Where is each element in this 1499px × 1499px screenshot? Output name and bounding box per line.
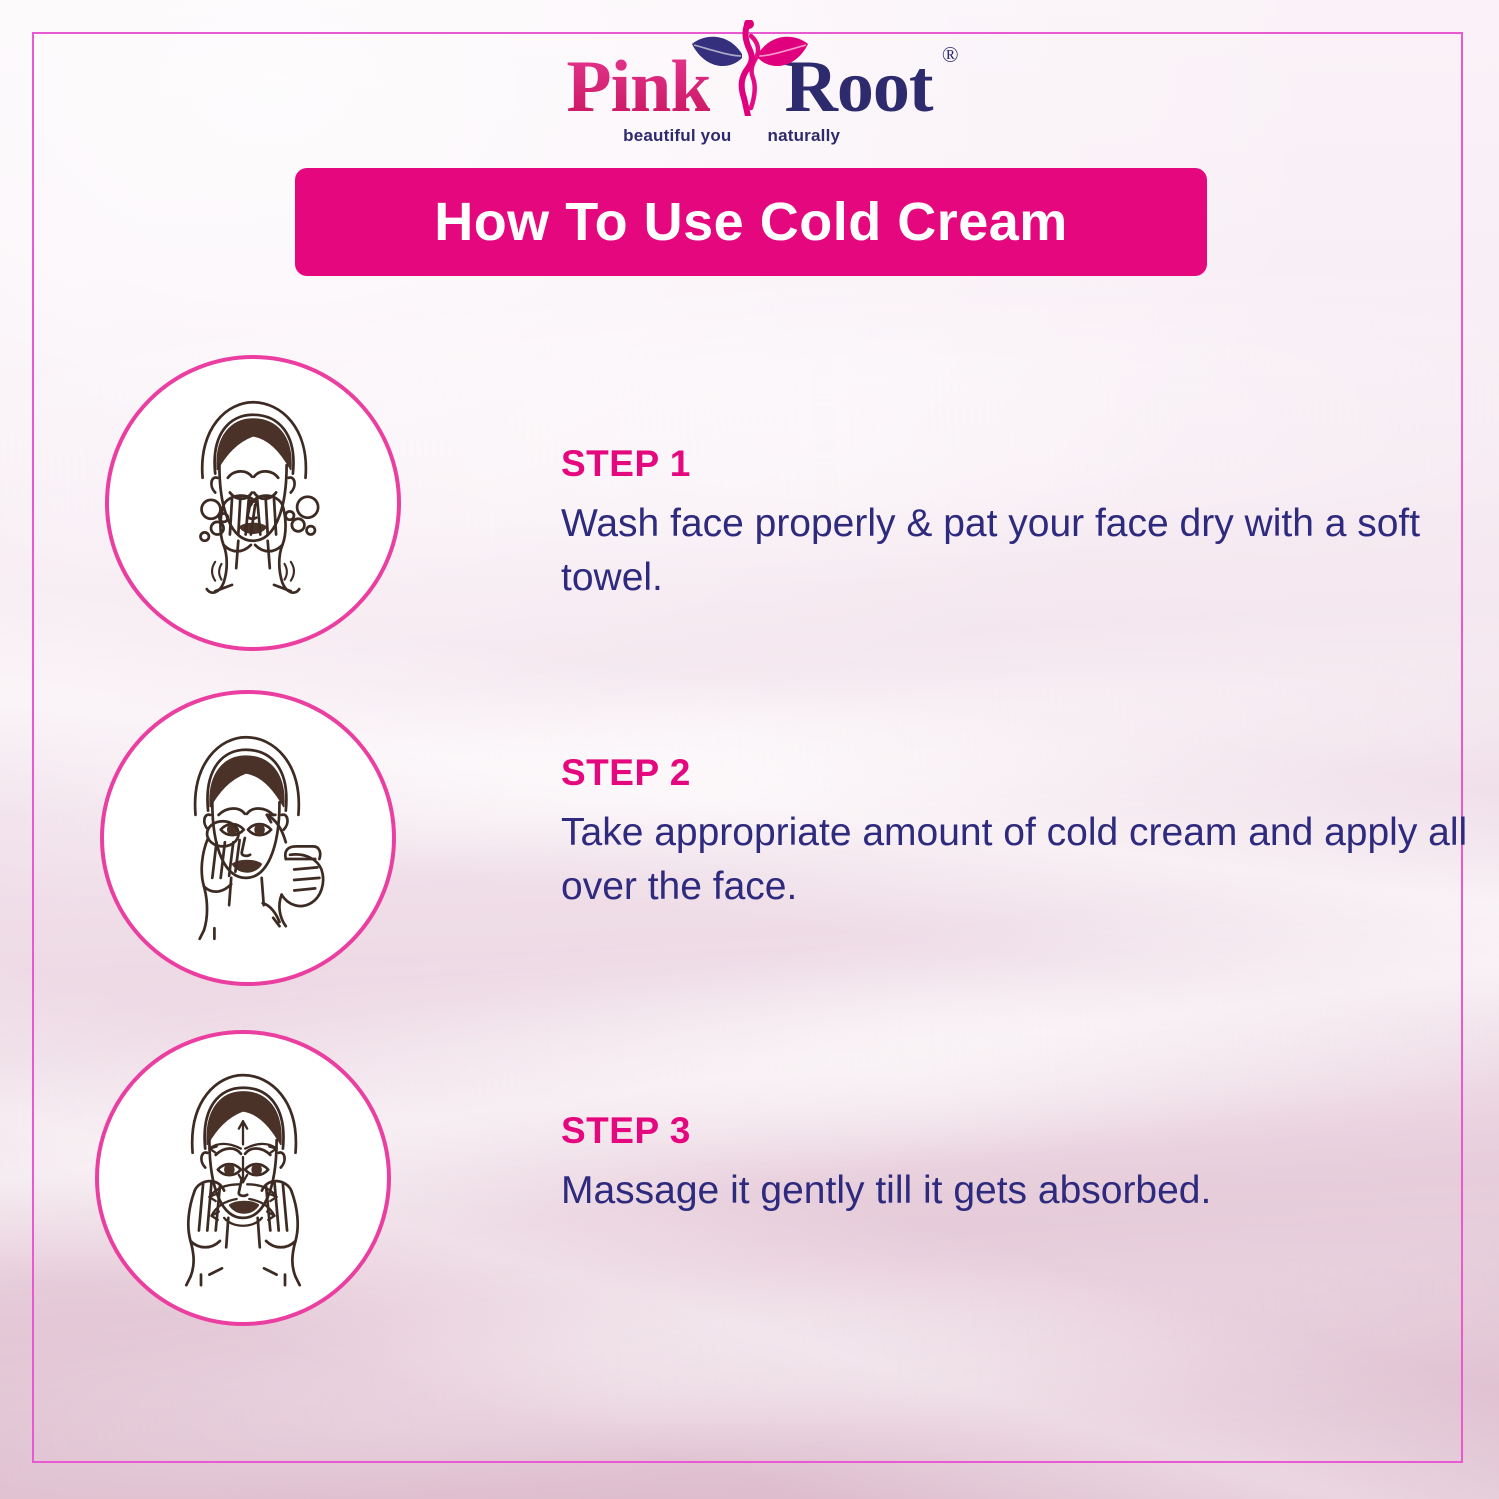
brand-tagline: beautiful you naturally: [614, 126, 886, 146]
tagline-right: naturally: [768, 126, 886, 146]
washing-face-icon: [127, 377, 379, 629]
step-2-label: STEP 2: [561, 752, 1491, 794]
applying-cream-icon: [122, 712, 374, 964]
step-2-body: Take appropriate amount of cold cream an…: [561, 806, 1491, 914]
step-2-illustration: [100, 690, 396, 986]
page-title-banner: How To Use Cold Cream: [295, 168, 1207, 276]
tagline-left: beautiful you: [614, 126, 732, 146]
massaging-face-icon: [117, 1052, 369, 1304]
brand-logo-wordmark: Pink Root ®: [566, 46, 932, 124]
step-3-illustration: [95, 1030, 391, 1326]
step-3-text-block: STEP 3 Massage it gently till it gets ab…: [561, 1110, 1211, 1218]
step-item-1: STEP 1 Wash face properly & pat your fac…: [105, 355, 1491, 651]
brand-logo: Pink Root ® beautiful you: [0, 46, 1499, 146]
step-2-text-block: STEP 2 Take appropriate amount of cold c…: [561, 752, 1491, 914]
page-title: How To Use Cold Cream: [434, 191, 1068, 253]
poster-canvas: Pink Root ® beautiful you: [0, 0, 1499, 1499]
step-1-body: Wash face properly & pat your face dry w…: [561, 497, 1491, 605]
step-item-2: STEP 2 Take appropriate amount of cold c…: [100, 690, 1491, 986]
registered-trademark-icon: ®: [942, 42, 959, 68]
step-1-illustration: [105, 355, 401, 651]
step-1-label: STEP 1: [561, 443, 1491, 485]
leaf-figure-icon: [684, 20, 814, 116]
step-item-3: STEP 3 Massage it gently till it gets ab…: [95, 1030, 1211, 1326]
step-1-text-block: STEP 1 Wash face properly & pat your fac…: [561, 443, 1491, 605]
step-3-body: Massage it gently till it gets absorbed.: [561, 1164, 1211, 1218]
step-3-label: STEP 3: [561, 1110, 1211, 1152]
